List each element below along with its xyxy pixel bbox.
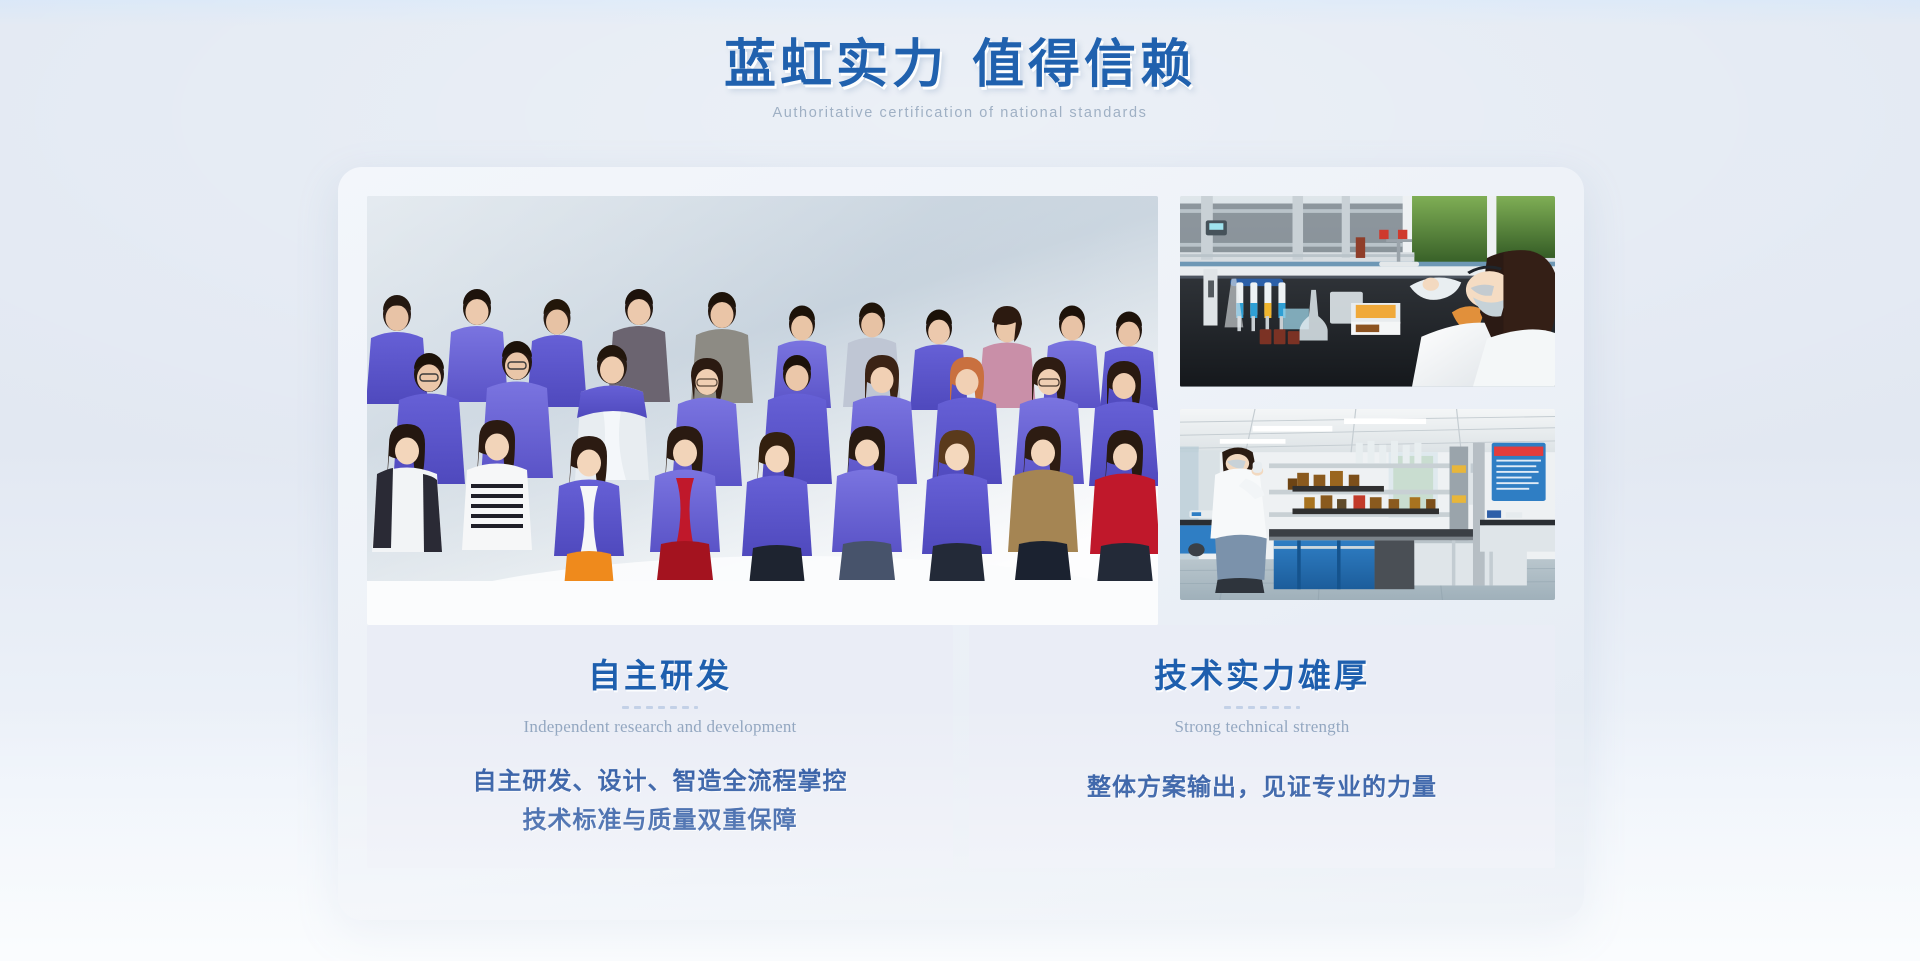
divider-dash <box>1224 706 1231 709</box>
divider-dash <box>682 706 689 709</box>
card-independent-rd[interactable]: 自主研发 Independent research and developmen… <box>367 625 953 868</box>
divider-dash <box>670 706 677 709</box>
laboratory-room-photo-art <box>1180 409 1555 600</box>
page-subtitle: Authoritative certification of national … <box>0 105 1920 121</box>
dot-divider <box>1224 706 1300 709</box>
card-body: 整体方案输出，见证专业的力量 <box>1087 769 1437 808</box>
divider-dash <box>658 706 665 709</box>
content-panel: 自主研发 Independent research and developmen… <box>338 167 1584 920</box>
card-body-line2: 技术标准与质量双重保障 <box>473 802 848 841</box>
divider-dash <box>646 706 653 709</box>
card-english-subtitle: Strong technical strength <box>1175 717 1350 737</box>
divider-dash <box>1236 706 1243 709</box>
page-title: 蓝虹实力值得信赖 <box>0 34 1920 97</box>
lab-technician-photo[interactable] <box>1180 196 1555 387</box>
laboratory-room-photo[interactable] <box>1180 409 1555 600</box>
team-group-photo[interactable] <box>367 196 1158 625</box>
card-english-subtitle: Independent research and development <box>524 717 797 737</box>
card-title: 技术实力雄厚 <box>1154 649 1370 697</box>
divider-dash <box>1284 706 1291 709</box>
card-body-line1: 自主研发、设计、智造全流程掌控 <box>473 769 848 795</box>
divider-dash <box>1296 706 1300 709</box>
divider-dash <box>634 706 641 709</box>
info-cards: 自主研发 Independent research and developmen… <box>367 625 1555 868</box>
card-body-line1: 整体方案输出，见证专业的力量 <box>1087 775 1437 801</box>
team-group-photo-art <box>367 196 1158 625</box>
page-title-part1: 蓝虹实力 <box>724 37 948 94</box>
photo-gallery <box>367 196 1555 600</box>
divider-dash <box>1248 706 1255 709</box>
divider-dash <box>694 706 698 709</box>
lab-technician-photo-art <box>1180 196 1555 387</box>
page-header: 蓝虹实力值得信赖 Authoritative certification of … <box>0 0 1920 121</box>
divider-dash <box>622 706 629 709</box>
divider-dash <box>1272 706 1279 709</box>
lab-photos-column <box>1180 196 1555 600</box>
page-title-part2: 值得信赖 <box>972 37 1196 94</box>
card-title: 自主研发 <box>588 649 732 697</box>
dot-divider <box>622 706 698 709</box>
divider-dash <box>1260 706 1267 709</box>
card-body: 自主研发、设计、智造全流程掌控 技术标准与质量双重保障 <box>473 763 848 841</box>
card-technical-strength[interactable]: 技术实力雄厚 Strong technical strength 整体方案输出，… <box>969 625 1555 868</box>
